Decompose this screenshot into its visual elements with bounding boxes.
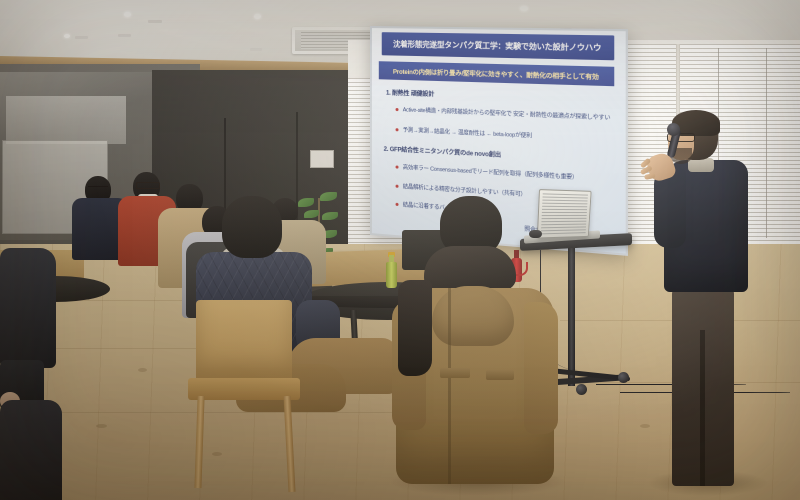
parka-belt-tab: [486, 370, 514, 380]
slide-section-heading-1: 1. 耐熱性 頑健設計: [386, 88, 434, 99]
floor-knot: [96, 424, 107, 428]
slide-bullet-1-2: 予測→実測→結晶化 → 温度耐性は ← beta-loopが便利: [403, 126, 532, 140]
downlight-icon: [124, 12, 131, 17]
caster-wheel: [576, 384, 587, 395]
slide-highlight-text: Proteinの内側は折り畳み/堅牢化に効きやすく、耐熱化の相手として有効: [393, 66, 599, 81]
slide-bullet-icon: [396, 129, 399, 132]
slide-bullet-2-1: 高効率ラー Consensus-basedでリード配列を取得（配列多様性も重要）: [403, 163, 578, 181]
attendee-arm: [524, 302, 558, 434]
slide-bullet-icon: [396, 108, 399, 111]
mouse-icon[interactable]: [529, 230, 542, 238]
slide-title-bar: 沈着形態完遂型タンパク質工学：実験で効いた設計ノウハウ: [381, 32, 614, 60]
slide-bullet-icon: [396, 203, 399, 206]
glass-reflection: [6, 96, 126, 144]
wall-notice-sign: [310, 150, 334, 168]
ceiling-slot: [148, 20, 162, 23]
downlight-icon: [64, 34, 70, 38]
slide-bullet-icon: [396, 166, 399, 169]
glasses-icon: [136, 182, 160, 189]
presenter-leg-seam: [700, 330, 705, 486]
parka-belt-tab: [440, 368, 470, 378]
ceiling-slot: [118, 34, 131, 37]
downlight-icon: [254, 14, 261, 19]
slide-title-text: 沈着形態完遂型タンパク質工学：実験で効いた設計ノウハウ: [393, 38, 601, 53]
attendee-foreground-partial: [0, 400, 62, 500]
attendee-hood-collar: [424, 246, 516, 290]
attendee-head: [222, 196, 282, 258]
attendee-scarf: [398, 280, 432, 376]
downlight-icon: [520, 6, 528, 11]
ceiling-slot: [250, 48, 262, 51]
glasses-icon: [88, 186, 108, 192]
slide-section-heading-2: 2. GFP結合性ミニタンパク質のde novo創出: [384, 143, 501, 158]
ceiling-slot: [75, 36, 88, 39]
slide-bullet-icon: [396, 184, 399, 187]
laptop-icon[interactable]: [537, 189, 592, 238]
caster-wheel: [618, 372, 629, 383]
seminar-photo: 沈着形態完遂型タンパク質工学：実験で効いた設計ノウハウ Proteinの内側は折…: [0, 0, 800, 500]
laptop-screen-content: [541, 193, 588, 234]
attendee-dark-partial: [0, 248, 56, 368]
floor-knot: [212, 452, 222, 456]
slide-bullet-1-1: Active-site構造・内部残基設計からの堅牢化で 安定・耐熱性の最適点が探…: [403, 105, 610, 121]
floor-knot: [138, 368, 147, 372]
green-tea-bottle[interactable]: [386, 262, 397, 288]
finger: [644, 173, 656, 180]
floor-knot: [640, 424, 650, 428]
blind-cord[interactable]: [766, 48, 767, 238]
parka-hood: [432, 286, 514, 346]
parka-seam: [448, 288, 451, 484]
presenter-collar: [688, 158, 714, 172]
wood-chair-back[interactable]: [196, 300, 292, 382]
slide-highlight-bar: Proteinの内側は折り畳み/堅牢化に効きやすく、耐熱化の相手として有効: [379, 61, 615, 86]
